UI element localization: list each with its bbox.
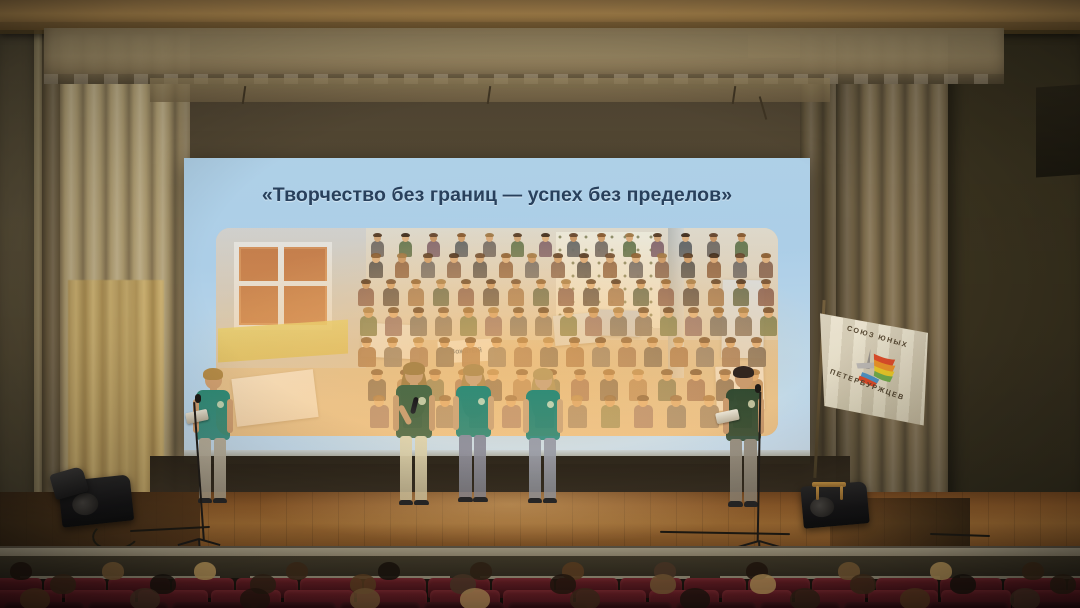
shirt xyxy=(526,390,560,440)
audience-member-head xyxy=(570,588,600,608)
wall-panel xyxy=(1036,84,1080,177)
audience-member-head xyxy=(1010,588,1040,608)
mic-pole xyxy=(193,402,205,540)
trouser-left xyxy=(400,436,413,502)
wooden-stool-leg xyxy=(840,486,843,500)
stage-valance xyxy=(44,28,1004,84)
audience-member-head xyxy=(194,562,216,580)
slide-title: «Творчество без границ — успех без преде… xyxy=(184,184,810,207)
audience-member-head xyxy=(790,588,820,608)
floor-light-reflection xyxy=(230,492,790,552)
audience-member-head xyxy=(950,574,976,594)
audience-member-head xyxy=(930,562,952,580)
shoe-right xyxy=(414,500,429,505)
presenter-girl-1 xyxy=(396,360,448,511)
audience-member-head xyxy=(20,588,50,608)
audience-member-head xyxy=(1050,574,1076,594)
shoe-left xyxy=(728,501,743,506)
microphone-icon xyxy=(195,394,201,403)
audience-member-head xyxy=(240,588,270,608)
presenter-girl-3 xyxy=(526,366,576,509)
auditorium-stage-photo: «Творчество без границ — успех без преде… xyxy=(0,0,1080,608)
audience-member-head xyxy=(10,562,32,580)
mic-stand-right xyxy=(748,382,788,546)
arm-left xyxy=(523,399,529,433)
trouser-left xyxy=(529,438,541,500)
audience-member-head xyxy=(50,574,76,594)
audience-member-head xyxy=(680,588,710,608)
arm-right xyxy=(557,399,563,433)
trouser-right xyxy=(544,438,556,500)
audience-member-head xyxy=(460,588,490,608)
trouser-left xyxy=(459,435,471,498)
hair-front xyxy=(533,368,553,380)
audience-member-head xyxy=(130,588,160,608)
photo-window xyxy=(234,242,332,330)
hair-front xyxy=(203,368,223,380)
audience-member-head xyxy=(900,588,930,608)
mic-stand-left xyxy=(188,392,228,544)
arm-right xyxy=(429,395,435,431)
trouser-left xyxy=(730,439,742,503)
presenter-girl-2 xyxy=(456,362,507,508)
shoe-right xyxy=(543,498,557,503)
audience-member-head xyxy=(378,562,400,580)
shirt xyxy=(456,386,491,437)
mic-pole xyxy=(757,392,762,542)
shirt-emblem xyxy=(478,398,485,405)
arm-left xyxy=(393,395,399,431)
shoe-left xyxy=(399,500,414,505)
arm-left xyxy=(453,396,459,431)
audience-member-head xyxy=(350,588,380,608)
wooden-stool-leg xyxy=(816,486,819,500)
hair-front xyxy=(403,362,424,374)
monitor-speaker-right xyxy=(800,481,869,529)
hair-front xyxy=(463,364,483,376)
audience-member-head xyxy=(650,574,676,594)
shoe-left xyxy=(458,497,472,502)
audience-area xyxy=(0,556,1080,608)
audience-member-head xyxy=(102,562,124,580)
shirt-emblem xyxy=(418,397,425,404)
trouser-right xyxy=(415,436,428,502)
trouser-right xyxy=(474,435,486,498)
arm-right xyxy=(488,396,494,431)
microphone-icon xyxy=(755,384,761,393)
audience-member-head xyxy=(550,574,576,594)
audience-member-head xyxy=(750,574,776,594)
audience-member-head xyxy=(850,574,876,594)
shoe-right xyxy=(473,497,487,502)
shoe-left xyxy=(528,498,542,503)
curtain-right xyxy=(836,30,948,542)
audience-seat xyxy=(928,602,1008,608)
audience-member-head xyxy=(286,562,308,580)
hair-front xyxy=(733,366,754,378)
audience-seat xyxy=(592,602,672,608)
audience-member-head xyxy=(1022,562,1044,580)
